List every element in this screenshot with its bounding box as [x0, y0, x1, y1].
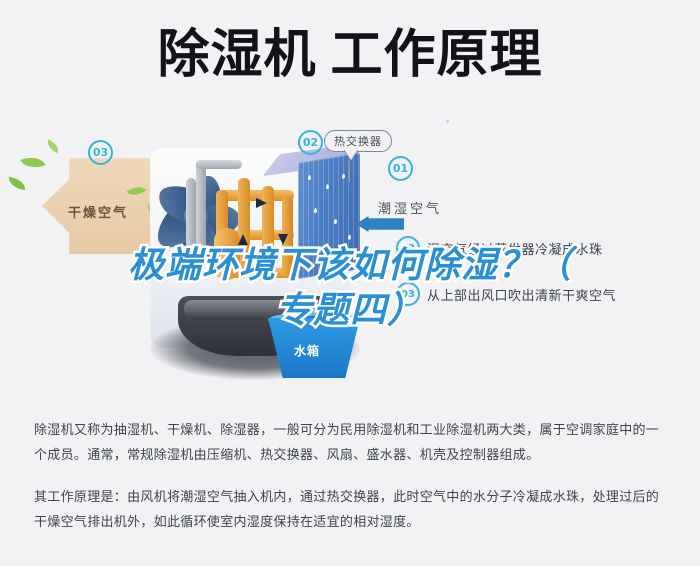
dry-air-label: 干燥空气 [68, 202, 128, 221]
leaf-icon [7, 177, 26, 190]
step-text: 从上部出风口吹出清新干爽空气 [427, 285, 616, 304]
water-tank-label: 水箱 [294, 342, 320, 359]
heat-exchanger-callout: 热交换器 [324, 130, 392, 152]
article-body: 除湿机又称为抽湿机、干燥机、除湿器，一般可分为民用除湿机和工业除湿机两大类，属于… [34, 418, 668, 535]
list-item: 02 湿空气经过蒸发器冷凝成水珠 [396, 236, 696, 260]
step-text: 湿空气经过蒸发器冷凝成水珠 [427, 239, 603, 258]
step-list: 01 潮湿空气 02 湿空气经过蒸发器冷凝成水珠 03 从上部出风口吹出清新干爽… [396, 190, 696, 328]
pipe-graphic [196, 160, 242, 169]
callout-leader-line [348, 160, 350, 182]
callout-tail-icon [344, 149, 358, 160]
evaporator-block [298, 153, 360, 279]
title-part-two: 工作原理 [331, 25, 543, 85]
page-title: 除湿机工作原理 [0, 28, 700, 83]
body-paragraph-2: 其工作原理是：由风机将潮湿空气抽入机内，通过热交换器，此时空气中的水分子冷凝成水… [34, 485, 668, 536]
badge-02: 02 [298, 130, 323, 155]
page-root: 除湿机工作原理 干燥空气 [0, 0, 700, 566]
dehumidifier-diagram: 干燥空气 [0, 120, 700, 410]
badge-01: 01 [388, 156, 413, 181]
title-text: 除湿机工作原理 [157, 28, 542, 83]
body-paragraph-1: 除湿机又称为抽湿机、干燥机、除湿器，一般可分为民用除湿机和工业除湿机两大类，属于… [34, 418, 668, 469]
step-badge: 02 [396, 236, 420, 260]
compressor-coil-graphic [212, 172, 302, 284]
pipe-graphic [196, 160, 206, 258]
leaf-icon [21, 153, 46, 172]
list-item: 03 从上部出风口吹出清新干爽空气 [396, 282, 696, 306]
badge-03: 03 [88, 140, 113, 165]
pipe-graphic [186, 178, 196, 248]
title-part-one: 除湿机 [157, 25, 316, 85]
step-badge: 03 [396, 282, 420, 306]
leaf-icon [45, 140, 61, 154]
